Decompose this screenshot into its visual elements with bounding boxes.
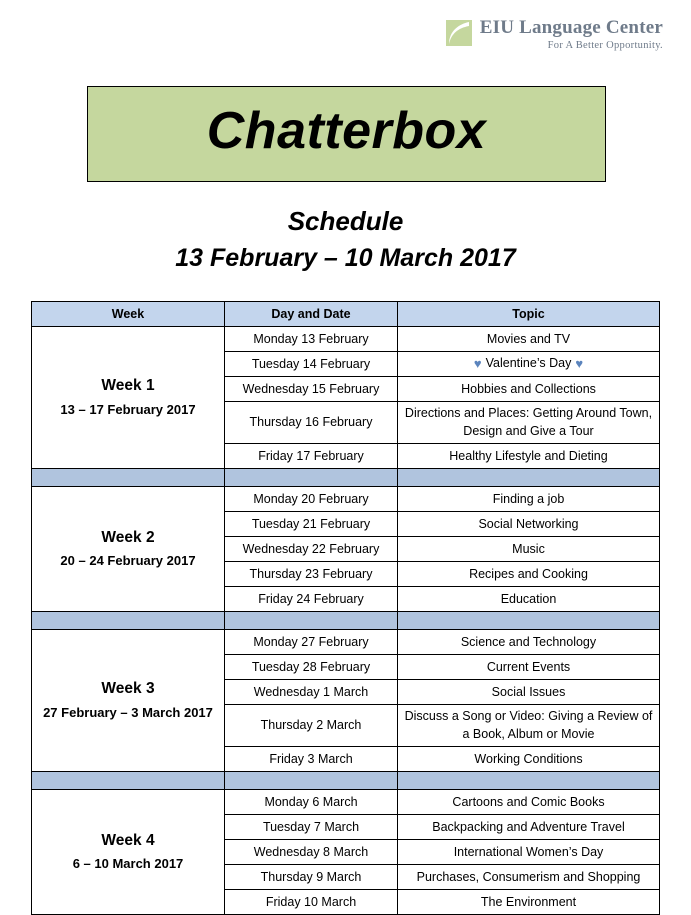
week-cell: Week 327 February – 3 March 2017 — [32, 630, 225, 772]
table-spacer-cell — [225, 612, 398, 630]
day-cell: Wednesday 1 March — [225, 680, 398, 705]
day-cell: Thursday 9 March — [225, 865, 398, 890]
day-cell: Monday 6 March — [225, 790, 398, 815]
day-cell: Friday 3 March — [225, 747, 398, 772]
heart-icon: ♥ — [575, 356, 583, 371]
week-name: Week 3 — [38, 678, 218, 700]
week-range: 6 – 10 March 2017 — [38, 855, 218, 874]
topic-cell: Social Issues — [398, 680, 660, 705]
day-cell: Friday 24 February — [225, 587, 398, 612]
week-cell: Week 220 – 24 February 2017 — [32, 487, 225, 612]
table-row: Week 113 – 17 February 2017Monday 13 Feb… — [32, 327, 660, 352]
week-range: 13 – 17 February 2017 — [38, 401, 218, 420]
table-spacer-row — [32, 612, 660, 630]
column-header-topic: Topic — [398, 302, 660, 327]
day-cell: Tuesday 28 February — [225, 655, 398, 680]
week-name: Week 2 — [38, 527, 218, 549]
topic-cell: Working Conditions — [398, 747, 660, 772]
week-range: 20 – 24 February 2017 — [38, 552, 218, 571]
schedule-heading: Schedule 13 February – 10 March 2017 — [0, 205, 691, 274]
table-spacer-cell — [32, 469, 225, 487]
day-cell: Wednesday 8 March — [225, 840, 398, 865]
brand-logo: EIU Language Center For A Better Opportu… — [446, 18, 663, 51]
page-title: Chatterbox — [207, 105, 486, 163]
column-header-week: Week — [32, 302, 225, 327]
topic-cell: International Women’s Day — [398, 840, 660, 865]
week-name: Week 1 — [38, 375, 218, 397]
topic-cell: Education — [398, 587, 660, 612]
topic-cell: Hobbies and Collections — [398, 377, 660, 402]
day-cell: Tuesday 14 February — [225, 352, 398, 377]
day-cell: Monday 27 February — [225, 630, 398, 655]
topic-cell: Finding a job — [398, 487, 660, 512]
table-header-row: Week Day and Date Topic — [32, 302, 660, 327]
topic-cell: ♥Valentine’s Day♥ — [398, 352, 660, 377]
day-cell: Wednesday 15 February — [225, 377, 398, 402]
topic-cell: Science and Technology — [398, 630, 660, 655]
week-cell: Week 113 – 17 February 2017 — [32, 327, 225, 469]
brand-text-block: EIU Language Center For A Better Opportu… — [480, 18, 663, 51]
day-cell: Thursday 2 March — [225, 705, 398, 747]
day-cell: Wednesday 22 February — [225, 537, 398, 562]
topic-text: Valentine’s Day — [486, 356, 572, 370]
schedule-date-range: 13 February – 10 March 2017 — [0, 242, 691, 275]
day-cell: Tuesday 21 February — [225, 512, 398, 537]
heart-icon: ♥ — [474, 356, 482, 371]
eiu-arch-icon — [446, 20, 472, 46]
topic-cell: Healthy Lifestyle and Dieting — [398, 444, 660, 469]
table-spacer-row — [32, 469, 660, 487]
table-spacer-cell — [225, 469, 398, 487]
title-banner: Chatterbox — [87, 86, 606, 182]
table-body: Week 113 – 17 February 2017Monday 13 Feb… — [32, 327, 660, 915]
brand-tagline: For A Better Opportunity. — [548, 40, 663, 51]
topic-cell: Movies and TV — [398, 327, 660, 352]
table-spacer-cell — [32, 612, 225, 630]
day-cell: Friday 10 March — [225, 890, 398, 915]
topic-cell: Backpacking and Adventure Travel — [398, 815, 660, 840]
week-range: 27 February – 3 March 2017 — [38, 704, 218, 723]
table-row: Week 46 – 10 March 2017Monday 6 MarchCar… — [32, 790, 660, 815]
topic-cell: The Environment — [398, 890, 660, 915]
topic-cell: Purchases, Consumerism and Shopping — [398, 865, 660, 890]
day-cell: Thursday 23 February — [225, 562, 398, 587]
day-cell: Monday 20 February — [225, 487, 398, 512]
topic-cell: Recipes and Cooking — [398, 562, 660, 587]
table-spacer-cell — [32, 772, 225, 790]
table-header: Week Day and Date Topic — [32, 302, 660, 327]
week-name: Week 4 — [38, 830, 218, 852]
day-cell: Friday 17 February — [225, 444, 398, 469]
topic-cell: Social Networking — [398, 512, 660, 537]
column-header-day: Day and Date — [225, 302, 398, 327]
day-cell: Thursday 16 February — [225, 402, 398, 444]
table-spacer-row — [32, 772, 660, 790]
week-cell: Week 46 – 10 March 2017 — [32, 790, 225, 915]
topic-cell: Current Events — [398, 655, 660, 680]
schedule-table: Week Day and Date Topic Week 113 – 17 Fe… — [31, 301, 660, 915]
day-cell: Monday 13 February — [225, 327, 398, 352]
topic-cell: Discuss a Song or Video: Giving a Review… — [398, 705, 660, 747]
table-spacer-cell — [225, 772, 398, 790]
table-row: Week 220 – 24 February 2017Monday 20 Feb… — [32, 487, 660, 512]
table-spacer-cell — [398, 772, 660, 790]
table-row: Week 327 February – 3 March 2017Monday 2… — [32, 630, 660, 655]
schedule-label: Schedule — [0, 205, 691, 238]
topic-cell: Music — [398, 537, 660, 562]
table-spacer-cell — [398, 469, 660, 487]
topic-cell: Cartoons and Comic Books — [398, 790, 660, 815]
topic-cell: Directions and Places: Getting Around To… — [398, 402, 660, 444]
table-spacer-cell — [398, 612, 660, 630]
brand-name: EIU Language Center — [480, 18, 663, 38]
day-cell: Tuesday 7 March — [225, 815, 398, 840]
